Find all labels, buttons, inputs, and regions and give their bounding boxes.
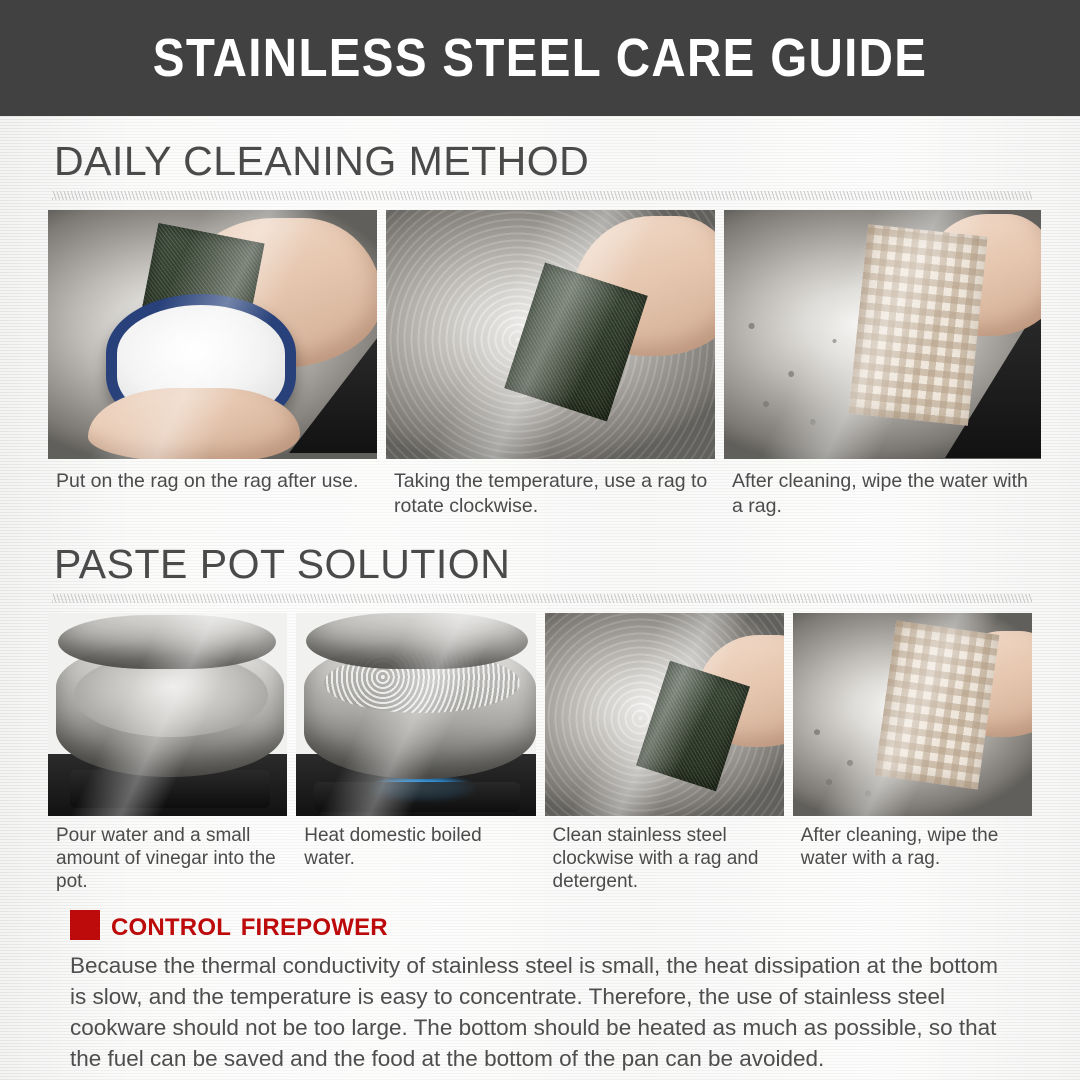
photo-wiping-wok-with-cloth	[793, 613, 1032, 816]
section-daily-cleaning: DAILY CLEANING METHOD Put on the rag on …	[48, 138, 1032, 519]
firepower-title: Control Firepower	[111, 905, 388, 944]
step-caption: Clean stainless steel clockwise with a r…	[545, 816, 784, 893]
hatched-divider	[52, 594, 1032, 603]
step-card: Heat domestic boiled water.	[296, 613, 535, 893]
content-area: DAILY CLEANING METHOD Put on the rag on …	[0, 138, 1080, 1074]
photo-row-daily-cleaning: Put on the rag on the rag after use. Tak…	[48, 210, 1032, 519]
step-caption: Taking the temperature, use a rag to rot…	[386, 459, 715, 519]
page-header: STAINLESS STEEL CARE GUIDE	[0, 0, 1080, 116]
checkered-cloth	[848, 224, 987, 426]
step-card: After cleaning, wipe the water with a ra…	[793, 613, 1032, 893]
photo-scrubbing-wok-with-pad	[545, 613, 784, 816]
hatched-divider	[52, 191, 1032, 200]
wok-lid	[306, 613, 528, 669]
section-title-daily-cleaning: DAILY CLEANING METHOD	[54, 138, 1032, 185]
wok-lid	[58, 615, 276, 669]
step-caption: After cleaning, wipe the water with a ra…	[724, 459, 1041, 519]
section-paste-pot-solution: PASTE POT SOLUTION Pour water and a smal…	[48, 541, 1032, 893]
step-card: After cleaning, wipe the water with a ra…	[724, 210, 1041, 519]
hand-icon	[88, 388, 300, 459]
firepower-body-text: Because the thermal conductivity of stai…	[70, 950, 1014, 1074]
step-card: Pour water and a small amount of vinegar…	[48, 613, 287, 893]
step-card: Put on the rag on the rag after use.	[48, 210, 377, 519]
photo-paste-tub-and-pad	[48, 210, 377, 459]
section-title-paste-pot: PASTE POT SOLUTION	[54, 541, 1032, 588]
firepower-section: Control Firepower Because the thermal co…	[48, 905, 1032, 1074]
photo-wok-with-water-on-stove	[48, 613, 287, 816]
step-caption: Pour water and a small amount of vinegar…	[48, 816, 287, 893]
step-caption: Put on the rag on the rag after use.	[48, 459, 377, 494]
stove-burner	[314, 782, 520, 812]
red-square-bullet-icon	[70, 910, 100, 940]
photo-wiping-pot-with-cloth	[724, 210, 1041, 459]
photo-wok-boiling-water	[296, 613, 535, 816]
photo-row-paste-pot: Pour water and a small amount of vinegar…	[48, 613, 1032, 893]
step-card: Taking the temperature, use a rag to rot…	[386, 210, 715, 519]
firepower-heading: Control Firepower	[70, 905, 1014, 944]
step-caption: Heat domestic boiled water.	[296, 816, 535, 870]
step-caption: After cleaning, wipe the water with a ra…	[793, 816, 1032, 870]
photo-scrubbing-pot-clockwise	[386, 210, 715, 459]
checkered-cloth	[874, 621, 999, 790]
page-title: STAINLESS STEEL CARE GUIDE	[153, 27, 928, 89]
step-card: Clean stainless steel clockwise with a r…	[545, 613, 784, 893]
